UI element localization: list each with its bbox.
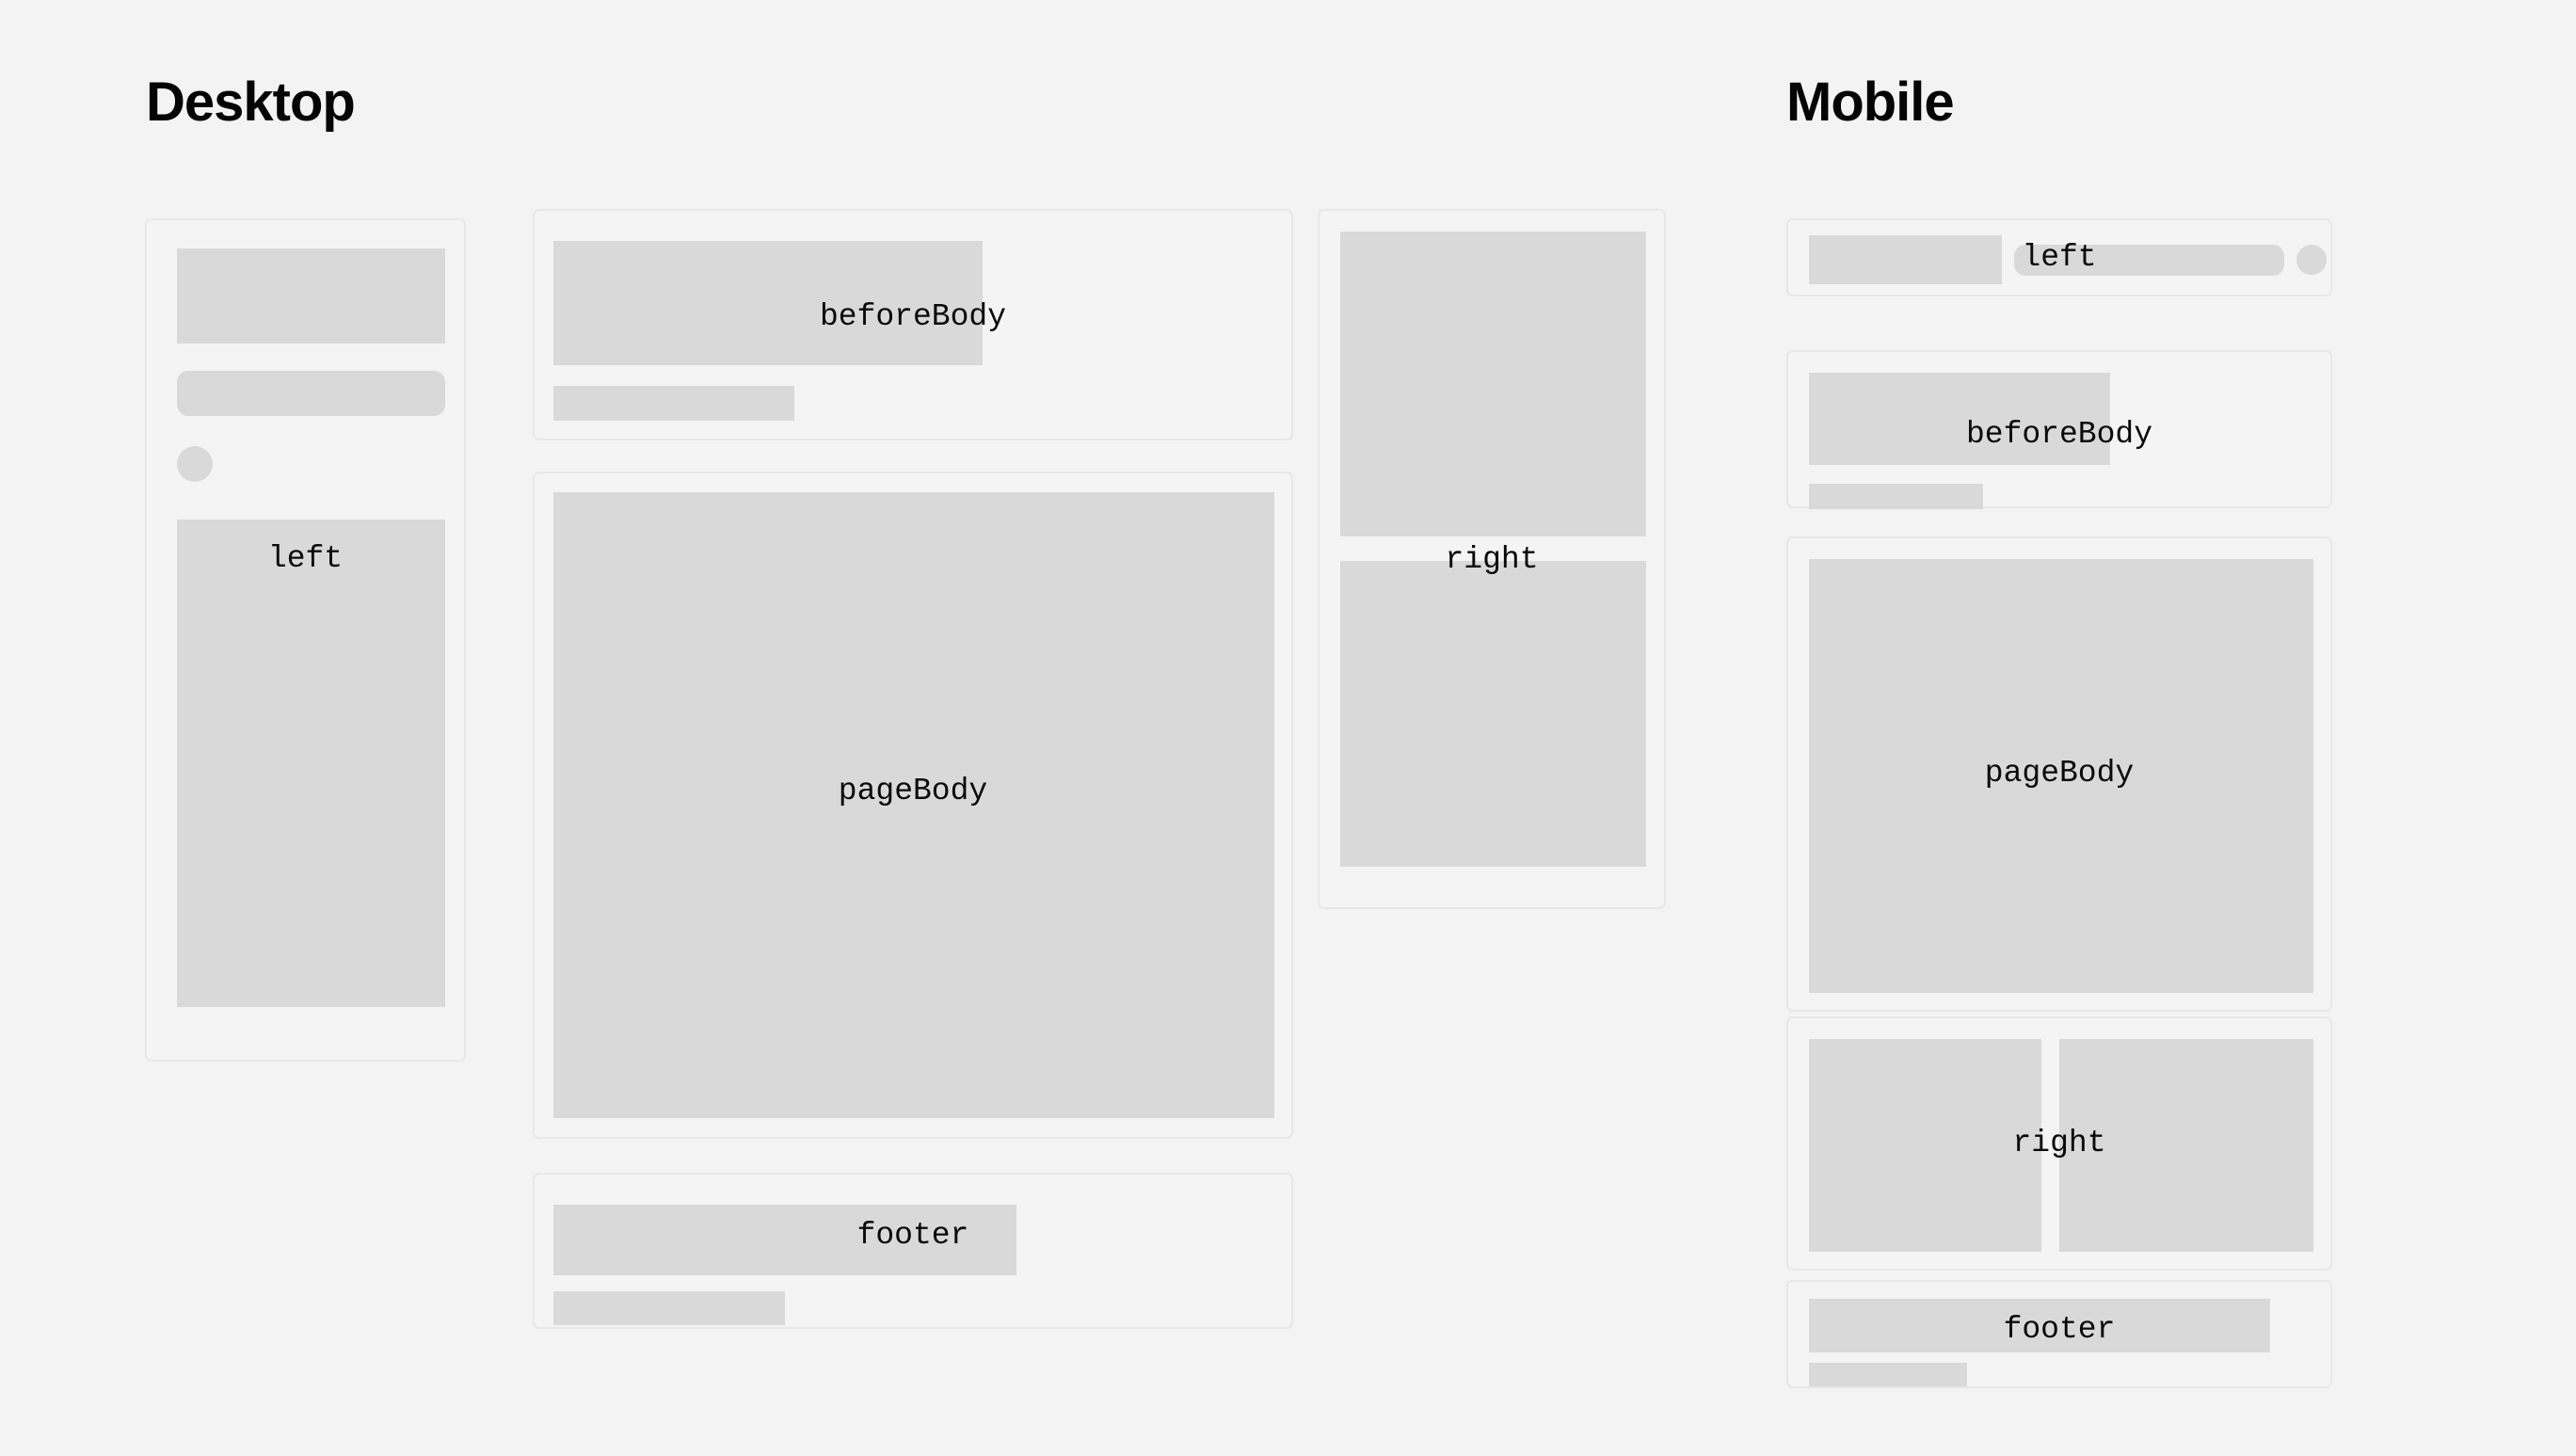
skeleton-block-caption [553, 386, 794, 421]
skeleton-block-page-body [553, 492, 1274, 1118]
mobile-right-region-panel[interactable] [1786, 1016, 2332, 1271]
skeleton-block-left-body [177, 520, 445, 1007]
skeleton-block-right-top [1340, 232, 1646, 536]
skeleton-block-right-bottom [1340, 561, 1646, 867]
wireframe-canvas: Desktop left beforeBody pageBody right f… [0, 0, 2576, 1456]
skeleton-block-footer-main [1809, 1299, 2270, 1352]
skeleton-block-avatar [2296, 245, 2327, 275]
mobile-left-region-panel[interactable] [1786, 218, 2332, 296]
desktop-footer-region-panel[interactable] [533, 1173, 1293, 1329]
desktop-pagebody-region-panel[interactable] [533, 472, 1293, 1139]
desktop-right-region-panel[interactable] [1318, 209, 1666, 909]
mobile-footer-region-panel[interactable] [1786, 1280, 2332, 1388]
skeleton-block-caption [1809, 484, 1983, 509]
mobile-pagebody-region-panel[interactable] [1786, 536, 2332, 1012]
skeleton-block-avatar [177, 446, 213, 482]
desktop-beforebody-region-panel[interactable] [533, 209, 1293, 440]
skeleton-block-hero [553, 241, 983, 365]
skeleton-block-bar [2014, 245, 2284, 276]
skeleton-block-footer-main [553, 1205, 1016, 1275]
desktop-column-title: Desktop [146, 75, 355, 130]
skeleton-block-hero [1809, 373, 2110, 465]
skeleton-block-bar [177, 371, 445, 416]
skeleton-block-header [1809, 235, 2002, 284]
desktop-left-region-panel[interactable] [145, 218, 466, 1062]
skeleton-block-right-left [1809, 1039, 2041, 1252]
skeleton-block-header [177, 248, 445, 344]
mobile-beforebody-region-panel[interactable] [1786, 350, 2332, 508]
skeleton-block-right-right [2059, 1039, 2313, 1252]
skeleton-block-footer-sub [553, 1291, 785, 1325]
skeleton-block-footer-sub [1809, 1363, 1967, 1386]
mobile-column-title: Mobile [1786, 75, 1954, 130]
skeleton-block-page-body [1809, 559, 2313, 993]
